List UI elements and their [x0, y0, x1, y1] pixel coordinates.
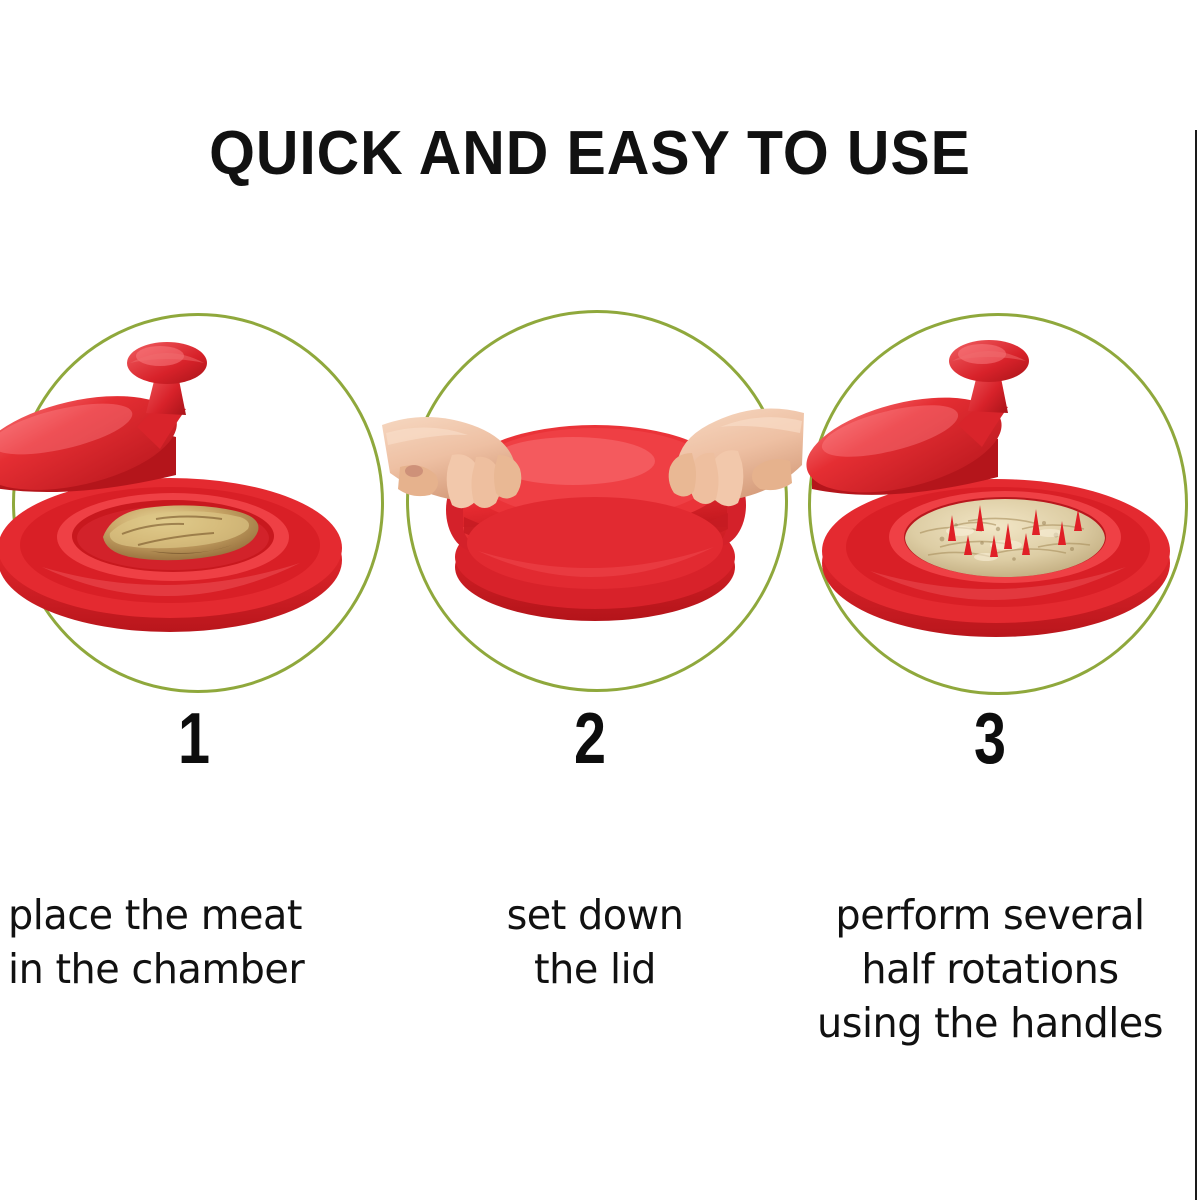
step-3-ring	[808, 313, 1188, 695]
step-number-1: 1	[146, 698, 242, 780]
hands-pressing-lid-graphic	[398, 305, 788, 695]
step-caption-3: perform several half rotations using the…	[786, 888, 1193, 1050]
step-caption-2-line-1: set down	[416, 888, 775, 942]
step-caption-1-line-1: place the meat	[8, 888, 396, 942]
step-number-3: 3	[942, 698, 1038, 780]
shredded-meat-graphic	[800, 305, 1190, 695]
step-3-illustration	[800, 305, 1190, 695]
right-hand	[669, 409, 804, 507]
left-hand	[382, 417, 521, 508]
page-title: QUICK AND EASY TO USE	[30, 118, 1151, 189]
knob	[127, 342, 207, 415]
step-number-2: 2	[542, 698, 638, 780]
step-2-illustration	[398, 305, 788, 695]
right-edge-rule	[1195, 130, 1197, 1200]
blade-prongs	[948, 505, 1082, 557]
step-caption-1-line-2: in the chamber	[8, 942, 396, 996]
step-2-ring	[406, 310, 788, 692]
step-1-illustration	[0, 305, 390, 695]
step-caption-2: set down the lid	[416, 888, 775, 996]
step-caption-2-line-2: the lid	[416, 942, 775, 996]
step-caption-3-line-3: using the handles	[786, 996, 1193, 1050]
meat-shredder-open-with-meat-graphic	[0, 305, 390, 695]
step-caption-1: place the meat in the chamber	[8, 888, 396, 996]
step-caption-3-line-1: perform several	[786, 888, 1193, 942]
knob	[949, 340, 1029, 413]
step-1-ring	[12, 313, 384, 693]
step-caption-3-line-2: half rotations	[786, 942, 1193, 996]
